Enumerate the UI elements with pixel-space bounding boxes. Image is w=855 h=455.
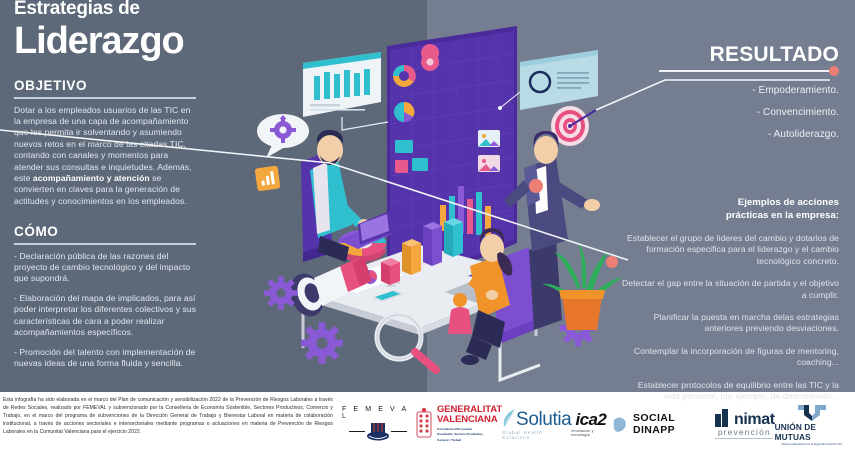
screen-tile [395,160,408,173]
logo-union-de-mutuas: UNIÓN DE MUTUAS Mutua Colaboradora con l… [775,402,849,446]
logo-femeval-text: F E M E V A L [342,406,414,420]
objetivo-rule [14,97,196,99]
ejemplos-item: Detectar el gap entre la situación de pa… [621,278,839,301]
logo-social-dinapp-text: SOCIAL DINAPP [633,412,714,436]
objetivo-heading: OBJETIVO [14,78,198,93]
union-mutuas-mark-icon [796,402,828,422]
logo-generalitat-sub3: Comerç i Treball [437,438,502,442]
como-item: - Elaboración del mapa de implicados, pa… [14,293,198,339]
nimat-mark-icon [714,408,734,428]
logo-generalitat-sub1: Conselleria d'Economia [437,427,502,431]
logo-ica2-sub: innovación y tecnología [571,429,610,437]
floating-bar-panel [303,52,388,130]
ejemplos-heading: Ejemplos de acciones prácticas en la emp… [621,197,839,222]
ejemplos-heading-line1: Ejemplos de acciones [621,197,839,210]
bar [402,239,421,275]
como-item: - Promoción del talento con implementaci… [14,347,198,370]
logo-solutia: Solutia Global Health Solutions [502,407,571,440]
generalitat-crest-icon [414,407,434,441]
resultado-accent-dot [829,66,839,76]
logo-femeval-mark [349,422,407,442]
como-heading: CÓMO [14,224,198,239]
ejemplos-item: Planificar la puesta en marcha delas est… [621,312,839,335]
ejemplos-heading-line2: prácticas en la empresa: [621,210,839,223]
ejemplos-item: Contemplar la incorporación de figuras d… [621,346,839,369]
screen-image-card [478,155,500,172]
bar [381,258,400,285]
como-rule [14,243,196,245]
como-body: - Declaración pública de las razones del… [14,251,198,370]
ejemplos-item: Establecer protocolos de equilibrio entr… [621,380,839,403]
logo-nimat: nimat prevención [714,408,775,439]
right-text-column: RESULTADO - Empoderamiento. - Convencimi… [605,0,855,392]
logo-union-mutuas-sub: Mutua Colaboradora con la Seguridad Soci… [782,443,842,446]
resultado-item: - Empoderamiento. [621,84,839,98]
logo-social-dinapp: SOCIAL DINAPP [610,412,714,436]
logo-ica2-text: ica2 [576,411,607,428]
logo-femeval: F E M E V A L [342,406,414,442]
logo-nimat-sub: prevención [718,428,771,437]
objetivo-text-bold: acompañamiento y atención [33,173,150,183]
ejemplos-item: Establecer el grupo de lideres del cambi… [621,233,839,267]
resultado-item: - Convencimiento. [621,106,839,120]
resultado-rule [659,70,831,72]
gear-speech-bubble [257,114,309,158]
screen-tile [412,158,428,171]
screen-pie-chart [394,102,414,122]
gear-icon [293,314,352,373]
logo-solutia-text: Solutia [516,410,571,429]
resultado-rule-wrap [621,67,839,76]
bar [444,218,463,257]
logo-union-mutuas-text: UNIÓN DE MUTUAS [775,422,849,442]
orange-chart-card [255,165,281,191]
logo-generalitat-sub2: Sostenible, Sectors Productius, [437,432,502,436]
objetivo-text-prefix: Dotar a los empleados usuarios de las TI… [14,105,192,183]
bar [423,222,442,266]
objetivo-body: Dotar a los empleados usuarios de las TI… [14,105,198,208]
femeval-shield-icon [365,422,391,442]
page-title-line1: Estrategias de [14,0,198,20]
left-text-column: Estrategias de Liderazgo OBJETIVO Dotar … [0,0,212,392]
resultado-item: - Autoliderazgo. [621,128,839,142]
screen-tile [395,140,413,153]
logo-generalitat-valenciana: GENERALITAT VALENCIANA Conselleria d'Eco… [414,405,502,442]
footer-disclaimer: Esta infografía ha sido elaborada en el … [3,397,333,437]
logo-generalitat-line2: VALENCIANA [437,415,502,425]
logo-nimat-rule [715,438,773,439]
social-dinapp-mark-icon [610,414,629,434]
page-title-line2: Liderazgo [14,21,198,61]
logo-ica2: ica2 innovación y tecnología [571,411,610,437]
screen-image-card [478,130,500,147]
resultado-heading: RESULTADO [621,43,839,67]
infographic-root: Estrategias de Liderazgo OBJETIVO Dotar … [0,0,855,455]
solutia-leaf-icon [502,407,516,429]
logo-solutia-sub: Global Health Solutions [502,430,571,440]
logo-nimat-text: nimat [734,412,775,428]
como-item: - Declaración pública de las razones del… [14,251,198,285]
